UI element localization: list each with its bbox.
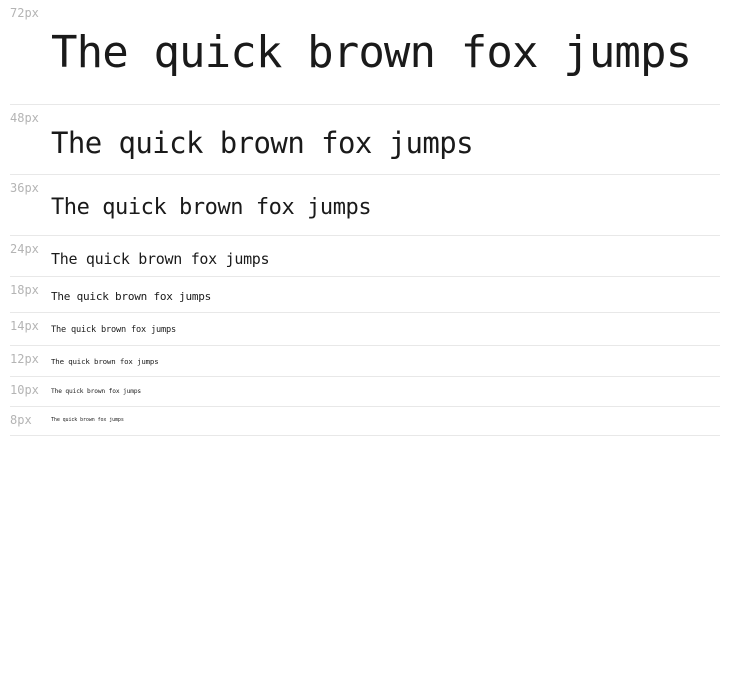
sample-text-10: The quick brown fox jumps	[51, 377, 720, 395]
specimen-row: 24px The quick brown fox jumps	[10, 236, 720, 277]
specimen-row: 12px The quick brown fox jumps	[10, 346, 720, 377]
size-label-18: 18px	[10, 283, 39, 297]
size-label-10: 10px	[10, 383, 39, 397]
specimen-row: 48px The quick brown fox jumps	[10, 105, 720, 175]
sample-text-48: The quick brown fox jumps	[51, 105, 720, 158]
specimen-row: 8px The quick brown fox jumps	[10, 407, 720, 436]
sample-text-14: The quick brown fox jumps	[51, 313, 720, 335]
specimen-row: 14px The quick brown fox jumps	[10, 313, 720, 346]
size-label-24: 24px	[10, 242, 39, 256]
size-label-48: 48px	[10, 111, 39, 125]
size-label-36: 36px	[10, 181, 39, 195]
sample-text-24: The quick brown fox jumps	[51, 236, 720, 267]
sample-text-18: The quick brown fox jumps	[51, 277, 720, 302]
specimen-row: 18px The quick brown fox jumps	[10, 277, 720, 313]
size-label-12: 12px	[10, 352, 39, 366]
size-label-8: 8px	[10, 413, 32, 427]
specimen-row: 72px The quick brown fox jumps	[10, 0, 720, 105]
sample-text-12: The quick brown fox jumps	[51, 346, 720, 365]
size-label-14: 14px	[10, 319, 39, 333]
specimen-row: 36px The quick brown fox jumps	[10, 175, 720, 236]
size-label-72: 72px	[10, 6, 39, 20]
specimen-row: 10px The quick brown fox jumps	[10, 377, 720, 407]
sample-text-8: The quick brown fox jumps	[51, 407, 720, 423]
sample-text-72: The quick brown fox jumps	[51, 0, 720, 75]
sample-text-36: The quick brown fox jumps	[51, 175, 720, 219]
font-size-specimen-sheet: 72px The quick brown fox jumps 48px The …	[0, 0, 730, 700]
